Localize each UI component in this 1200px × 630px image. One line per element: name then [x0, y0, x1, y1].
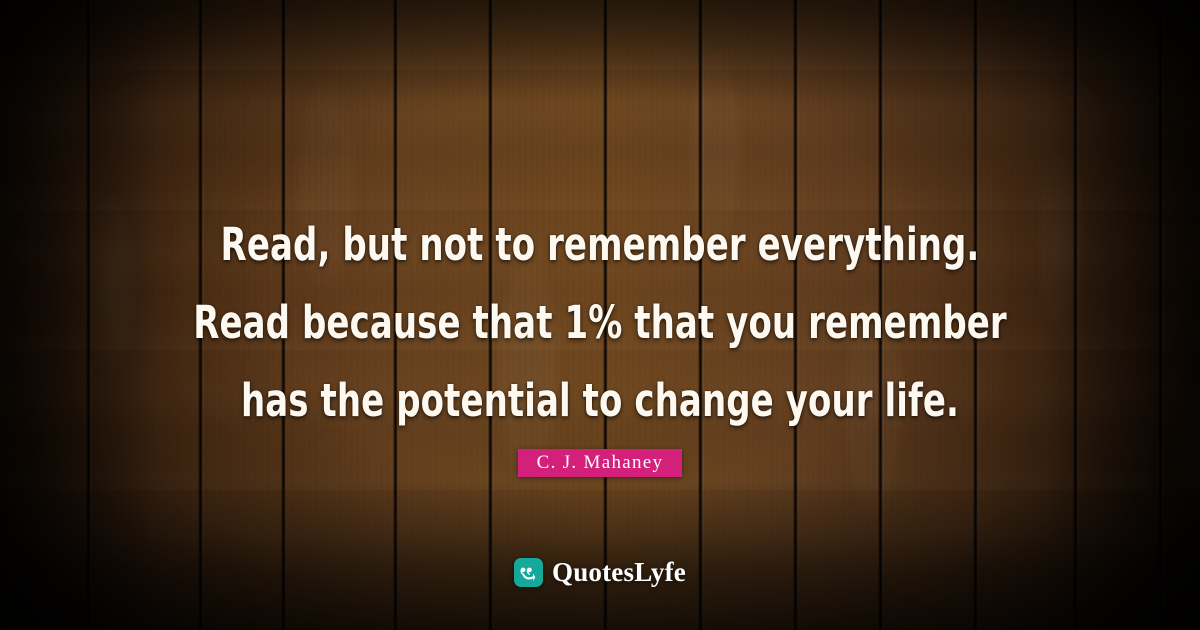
brand-watermark[interactable]: QuotesLyfe — [0, 557, 1200, 588]
author-attribution: C. J. Mahaney — [0, 449, 1200, 477]
quote-block: Read, but not to remember everything. Re… — [0, 206, 1200, 440]
brand-name: QuotesLyfe — [552, 557, 686, 588]
quote-card: Read, but not to remember everything. Re… — [0, 0, 1200, 630]
quoteslyfe-logo-icon — [514, 558, 543, 587]
quote-text: Read, but not to remember everything. Re… — [188, 206, 1011, 440]
card-content: Read, but not to remember everything. Re… — [0, 0, 1200, 630]
author-name-badge[interactable]: C. J. Mahaney — [518, 449, 683, 477]
